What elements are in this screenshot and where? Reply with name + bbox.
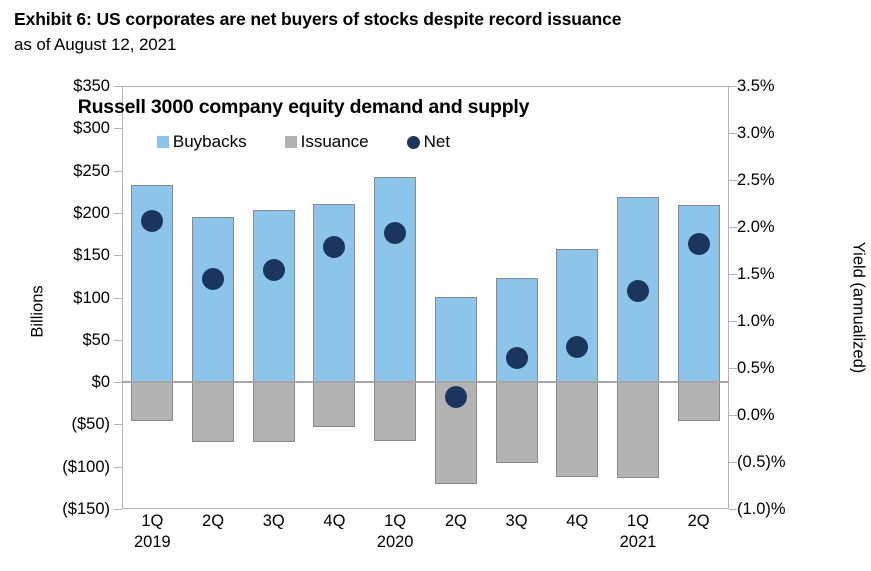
y-tick-label-right: 3.0% (737, 125, 775, 141)
bar-issuance[interactable] (313, 382, 355, 427)
y-tick-mark-right (729, 368, 737, 369)
exhibit-header: Exhibit 6: US corporates are net buyers … (14, 6, 859, 58)
y-tick-mark-left (114, 298, 122, 299)
y-tick-mark-left (114, 509, 122, 510)
y-tick-mark-right (729, 274, 737, 275)
y-tick-mark-right (729, 415, 737, 416)
y-tick-mark-right (729, 133, 737, 134)
x-label-quarter: 4Q (542, 511, 612, 532)
net-marker[interactable] (263, 259, 285, 281)
y-tick-mark-left (114, 128, 122, 129)
x-label-quarter: 1Q (360, 511, 430, 532)
y-tick-mark-left (114, 171, 122, 172)
bar-buybacks[interactable] (313, 204, 355, 383)
y-tick-label-left: $150 (73, 247, 110, 263)
y-tick-mark-left (114, 467, 122, 468)
y-tick-label-left: $350 (73, 78, 110, 94)
bar-buybacks[interactable] (678, 205, 720, 382)
bar-issuance[interactable] (496, 382, 538, 463)
y-tick-label-left: $100 (73, 290, 110, 306)
net-marker[interactable] (688, 233, 710, 255)
exhibit-title: Exhibit 6: US corporates are net buyers … (14, 6, 859, 32)
exhibit-subtitle: as of August 12, 2021 (14, 32, 859, 58)
bar-buybacks[interactable] (435, 297, 477, 382)
y-tick-label-left: ($50) (71, 416, 110, 432)
x-label-quarter: 2Q (421, 511, 491, 532)
y-axis-right: 3.5%3.0%2.5%2.0%1.5%1.0%0.5%0.0%(0.5)%(1… (737, 70, 817, 510)
bar-issuance[interactable] (678, 382, 720, 421)
bar-issuance[interactable] (253, 382, 295, 442)
y-tick-label-right: (1.0)% (737, 501, 786, 517)
x-axis-tick-label: 2Q (664, 511, 734, 532)
x-axis-tick-label: 3Q (239, 511, 309, 532)
bar-issuance[interactable] (556, 382, 598, 477)
x-label-year: 2019 (117, 532, 187, 553)
y-tick-label-left: $50 (82, 332, 110, 348)
x-label-quarter: 3Q (482, 511, 552, 532)
net-marker[interactable] (566, 336, 588, 358)
x-axis-tick-label: 4Q (542, 511, 612, 532)
zero-axis-line (122, 381, 729, 383)
y-tick-label-left: $200 (73, 205, 110, 221)
x-axis-tick-label: 4Q (299, 511, 369, 532)
x-label-quarter: 4Q (299, 511, 369, 532)
y-tick-mark-left (114, 255, 122, 256)
x-label-year: 2021 (603, 532, 673, 553)
bar-issuance[interactable] (617, 382, 659, 478)
bar-issuance[interactable] (374, 382, 416, 441)
x-label-quarter: 3Q (239, 511, 309, 532)
x-axis-labels: 1Q20192Q3Q4Q1Q20202Q3Q4Q1Q20212Q (122, 511, 729, 571)
y-tick-mark-left (114, 86, 122, 87)
net-marker[interactable] (627, 280, 649, 302)
plot-series-layer (122, 86, 729, 509)
y-tick-label-right: 1.5% (737, 266, 775, 282)
x-label-quarter: 2Q (664, 511, 734, 532)
y-tick-label-right: (0.5)% (737, 454, 786, 470)
y-tick-label-right: 1.0% (737, 313, 775, 329)
y-axis-left-title: Billions (29, 252, 48, 372)
y-tick-label-left: ($100) (62, 459, 110, 475)
bar-buybacks[interactable] (374, 177, 416, 383)
x-axis-tick-label: 2Q (421, 511, 491, 532)
chart-figure: $350$300$250$200$150$100$50$0($50)($100)… (0, 70, 871, 547)
x-label-year: 2020 (360, 532, 430, 553)
x-axis-tick-label: 2Q (178, 511, 248, 532)
bar-buybacks[interactable] (253, 210, 295, 382)
y-axis-right-title: Yield (annualized) (849, 208, 868, 408)
y-tick-label-left: $250 (73, 163, 110, 179)
y-tick-mark-left (114, 382, 122, 383)
net-marker[interactable] (445, 386, 467, 408)
y-tick-label-right: 2.5% (737, 172, 775, 188)
y-tick-mark-right (729, 86, 737, 87)
y-tick-mark-left (114, 213, 122, 214)
y-tick-mark-left (114, 340, 122, 341)
y-tick-mark-right (729, 509, 737, 510)
bar-buybacks[interactable] (192, 217, 234, 382)
bar-issuance[interactable] (131, 382, 173, 421)
y-tick-label-right: 3.5% (737, 78, 775, 94)
y-tick-label-left: $0 (92, 374, 110, 390)
y-tick-label-right: 0.5% (737, 360, 775, 376)
y-tick-mark-right (729, 462, 737, 463)
bar-buybacks[interactable] (556, 249, 598, 382)
x-axis-tick-label: 3Q (482, 511, 552, 532)
net-marker[interactable] (202, 268, 224, 290)
y-tick-label-right: 0.0% (737, 407, 775, 423)
y-tick-mark-left (114, 424, 122, 425)
y-tick-label-right: 2.0% (737, 219, 775, 235)
bar-issuance[interactable] (192, 382, 234, 442)
x-label-quarter: 1Q (117, 511, 187, 532)
x-label-quarter: 2Q (178, 511, 248, 532)
y-tick-label-left: ($150) (62, 501, 110, 517)
x-label-quarter: 1Q (603, 511, 673, 532)
net-marker[interactable] (506, 347, 528, 369)
y-tick-mark-right (729, 227, 737, 228)
y-tick-mark-right (729, 321, 737, 322)
y-tick-mark-right (729, 180, 737, 181)
